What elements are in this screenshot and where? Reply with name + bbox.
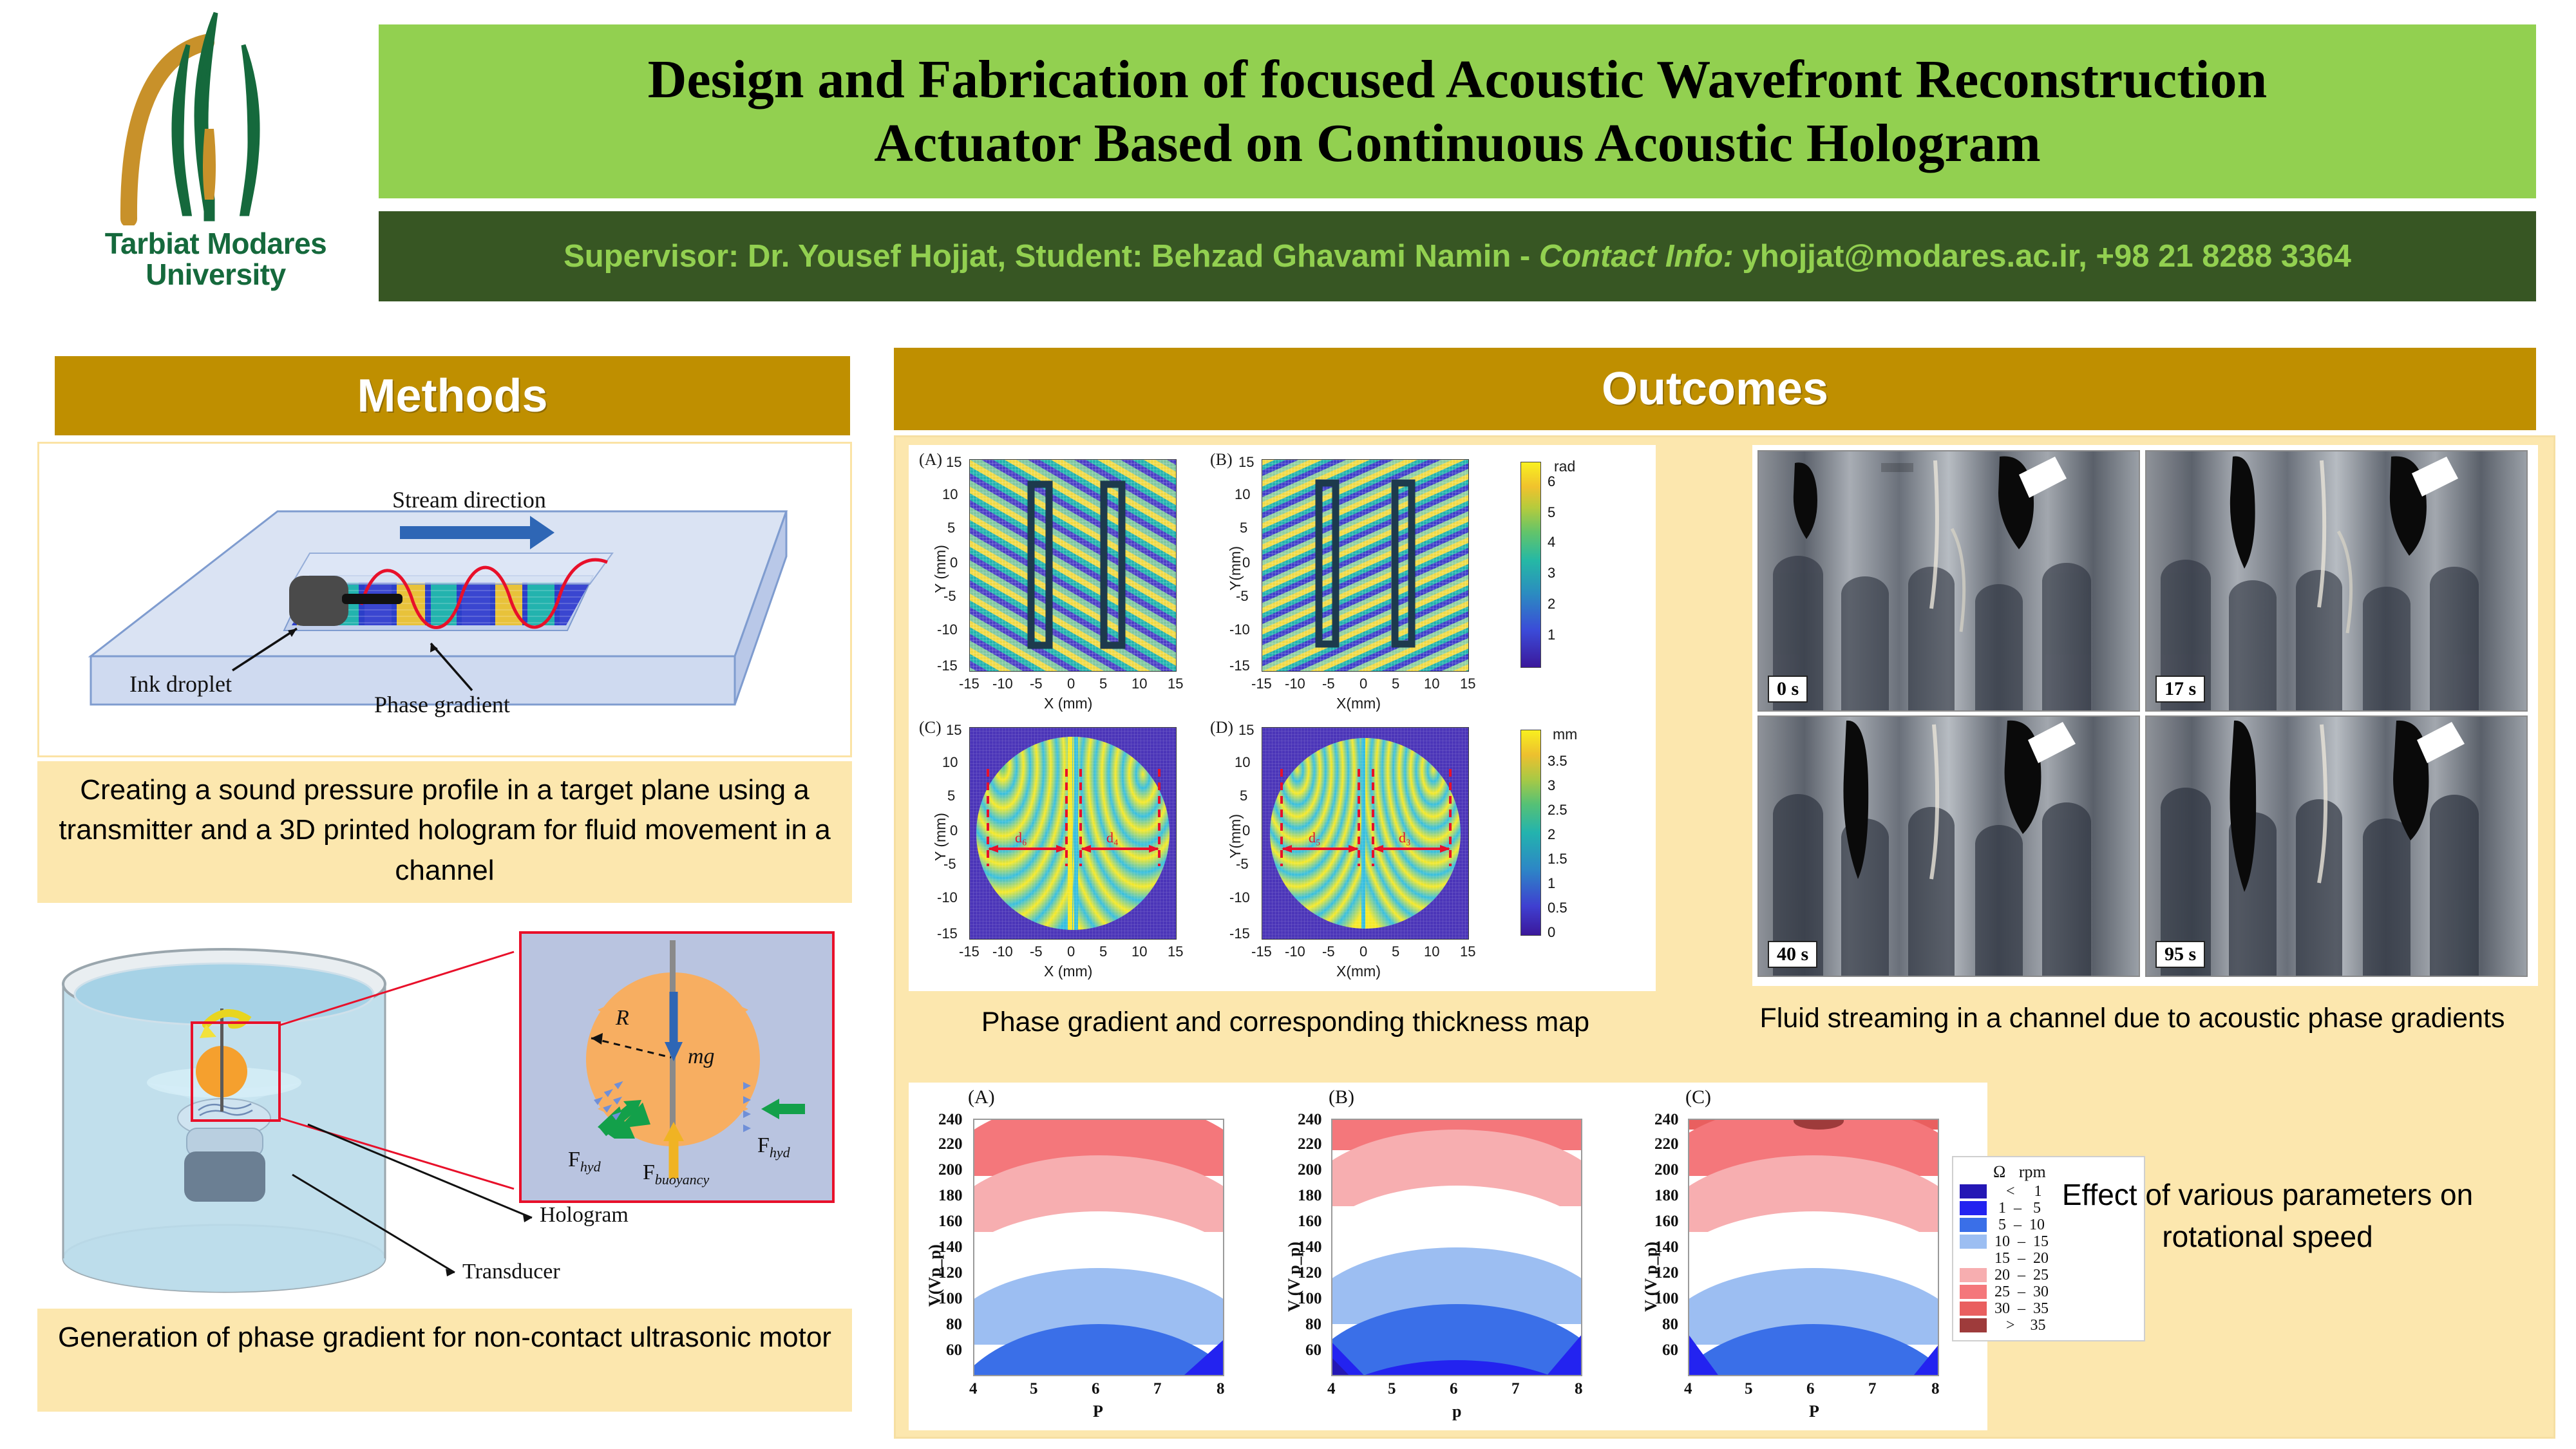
legend-swatch	[1960, 1268, 1987, 1282]
thickness-map-D: d₅ d₃	[1262, 727, 1469, 940]
thickness-C-ylabel: Y (mm)	[932, 813, 949, 861]
weight-label: mg	[688, 1045, 715, 1069]
legend-swatch	[1960, 1201, 1987, 1215]
authors-line: Supervisor: Dr. Yousef Hojjat, Student: …	[563, 238, 2351, 274]
svg-text:d₆: d₆	[1015, 829, 1027, 846]
legend-swatch	[1960, 1302, 1987, 1316]
phase-colorbar	[1520, 462, 1541, 668]
logo-line-1: Tarbiat Modares	[105, 228, 327, 259]
photo-timestamp: 95 s	[2155, 941, 2205, 968]
logo-text: Tarbiat Modares University	[105, 228, 327, 290]
phase-gradient-label: Phase gradient	[374, 691, 510, 718]
photo-timestamp: 0 s	[1768, 676, 1808, 703]
poster-title: Design and Fabrication of focused Acoust…	[622, 48, 2293, 175]
hologram-label: Hologram	[540, 1203, 629, 1227]
contour-panel-label-A: (A)	[968, 1086, 995, 1108]
phase-A-xlabel: X (mm)	[1044, 695, 1092, 712]
phase-A-ylabel: Y (mm)	[932, 545, 949, 593]
methods-caption-2: Generation of phase gradient for non-con…	[37, 1309, 852, 1412]
methods-figure-1: Stream direction Ink droplet Phase gradi…	[37, 442, 852, 757]
logo-line-2: University	[105, 259, 327, 290]
authors-names: Supervisor: Dr. Yousef Hojjat, Student: …	[563, 239, 1511, 274]
rotational-speed-contour-figure: (A) V(Vp_p) P 240 220 200 180 16	[909, 1083, 1987, 1430]
outcomes-column: (A)	[894, 435, 2555, 1439]
radius-label: R	[616, 1006, 629, 1030]
logo-mark-icon	[109, 6, 322, 225]
poster-title-bar: Design and Fabrication of focused Acoust…	[379, 24, 2536, 198]
outcomes-title: Outcomes	[1602, 363, 1828, 415]
photo-tile-95s: 95 s	[2145, 715, 2528, 977]
stream-direction-label: Stream direction	[392, 486, 546, 513]
authors-separator: -	[1511, 239, 1539, 274]
thickness-C-xlabel: X (mm)	[1044, 963, 1092, 980]
svg-text:d₃: d₃	[1399, 829, 1411, 846]
title-line-1: Design and Fabrication of focused Acoust…	[648, 48, 2268, 111]
methods-section-header: Methods	[55, 356, 850, 435]
f-hyd-left-label: Fhyd	[568, 1148, 601, 1175]
poster-root: Tarbiat Modares University Design and Fa…	[0, 0, 2576, 1449]
methods-caption-1: Creating a sound pressure profile in a t…	[37, 761, 852, 903]
photo-tile-40s: 40 s	[1757, 715, 2140, 977]
legend-swatch	[1960, 1318, 1987, 1332]
photos-figure-caption: Fluid streaming in a channel due to acou…	[1720, 990, 2544, 1080]
contour-A-xlabel: P	[1093, 1402, 1103, 1421]
contour-panel-label-B: (B)	[1329, 1086, 1354, 1108]
methods-title: Methods	[357, 370, 548, 422]
methods-column: Stream direction Ink droplet Phase gradi…	[12, 442, 868, 1439]
contour-figure-caption: Effect of various parameters on rotation…	[2010, 1165, 2525, 1326]
phase-map-A	[969, 459, 1177, 672]
f-hyd-right-label: Fhyd	[757, 1133, 790, 1161]
photo-timestamp: 17 s	[2155, 676, 2205, 703]
phase-B-ylabel: Y(mm)	[1227, 546, 1244, 591]
contour-C-xlabel: P	[1809, 1402, 1819, 1421]
outcomes-section-header: Outcomes	[894, 348, 2536, 430]
thickness-D-xlabel: X(mm)	[1336, 963, 1381, 980]
thickness-colorbar-unit: mm	[1553, 726, 1577, 743]
authors-bar: Supervisor: Dr. Yousef Hojjat, Student: …	[379, 211, 2536, 301]
phase-map-B	[1262, 459, 1469, 672]
svg-text:d₅: d₅	[1309, 829, 1321, 846]
panel-label-B: (B)	[1210, 450, 1233, 469]
transducer-label: Transducer	[462, 1260, 560, 1284]
phase-figure-caption: Phase gradient and corresponding thickne…	[902, 994, 1669, 1040]
thickness-map-C: d₆ d₄	[969, 727, 1177, 940]
legend-swatch	[1960, 1218, 1987, 1232]
ink-droplet-label: Ink droplet	[129, 670, 232, 697]
thickness-D-ylabel: Y(mm)	[1227, 814, 1244, 858]
contour-plot-C	[1688, 1119, 1939, 1376]
panel-label-A: (A)	[919, 450, 942, 469]
fluid-streaming-photo-grid: 0 s	[1752, 445, 2538, 986]
contour-panel-label-C: (C)	[1685, 1086, 1711, 1108]
legend-swatch	[1960, 1184, 1987, 1198]
phase-B-xlabel: X(mm)	[1336, 695, 1381, 712]
legend-swatch	[1960, 1235, 1987, 1249]
photo-tile-17s: 17 s	[2145, 450, 2528, 712]
contour-B-xlabel: p	[1452, 1402, 1461, 1421]
contour-plot-B	[1331, 1119, 1582, 1376]
f-buoyancy-label: Fbuoyancy	[643, 1160, 709, 1188]
legend-swatch	[1960, 1285, 1987, 1299]
title-line-2: Actuator Based on Continuous Acoustic Ho…	[648, 111, 2268, 175]
photo-tile-0s: 0 s	[1757, 450, 2140, 712]
thickness-colorbar	[1520, 730, 1541, 936]
panel-label-C: (C)	[919, 718, 942, 737]
contact-value[interactable]: yhojjat@modares.ac.ir, +98 21 8288 3364	[1734, 239, 2351, 274]
university-logo: Tarbiat Modares University	[71, 6, 361, 322]
contour-plot-A	[973, 1119, 1224, 1376]
methods-figure-2: Hologram Transducer	[37, 912, 852, 1305]
contact-label: Contact Info:	[1539, 239, 1734, 274]
free-body-diagram-inset: R mg Fhyd Fhyd Fbuoyancy	[519, 931, 835, 1203]
svg-text:d₄: d₄	[1106, 829, 1119, 846]
panel-label-D: (D)	[1210, 718, 1233, 737]
phase-thickness-figure: (A)	[909, 445, 1656, 991]
legend-symbol: Ω	[1993, 1162, 2005, 1181]
phase-colorbar-unit: rad	[1554, 458, 1575, 475]
photo-timestamp: 40 s	[1768, 941, 1817, 968]
legend-swatch	[1960, 1251, 1987, 1265]
